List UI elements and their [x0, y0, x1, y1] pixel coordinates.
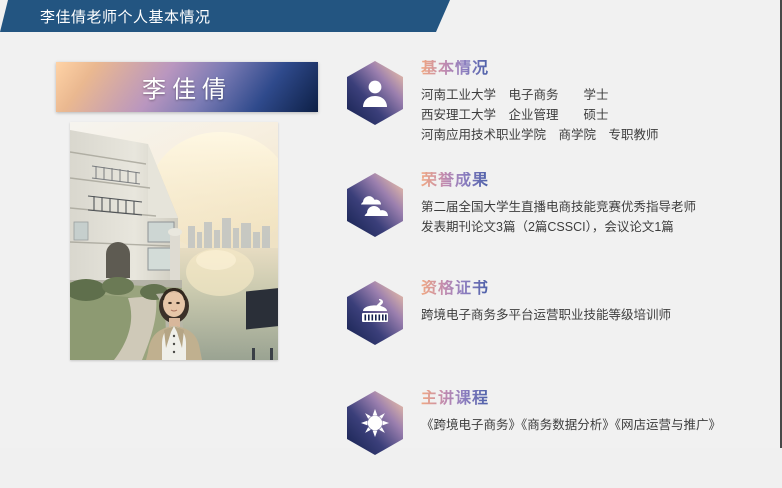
section-body: 基本情况 河南工业大学 电子商务 学士 西安理工大学 企业管理 硕士 河南应用技… [421, 56, 775, 145]
teacher-photo [70, 122, 278, 360]
section-line: 河南工业大学 电子商务 学士 [421, 85, 775, 105]
brush-icon [345, 280, 405, 346]
section-title: 荣誉成果 [421, 172, 489, 190]
teacher-name: 李佳倩 [56, 70, 318, 105]
header: 李佳倩老师个人基本情况 [0, 0, 782, 34]
section-line: 《跨境电子商务》《商务数据分析》《网店运营与推广》 [421, 415, 775, 435]
photo-image [70, 122, 278, 360]
section-title: 基本情况 [421, 60, 489, 78]
slide-page: 李佳倩老师个人基本情况 李佳倩 [0, 0, 782, 448]
section-title: 资格证书 [421, 280, 489, 298]
section-line: 河南应用技术职业学院 商学院 专职教师 [421, 125, 775, 145]
section-honors: 荣誉成果 第二届全国大学生直播电商技能竞赛优秀指导老师 发表期刊论文3篇（2篇C… [345, 168, 775, 260]
section-body: 荣誉成果 第二届全国大学生直播电商技能竞赛优秀指导老师 发表期刊论文3篇（2篇C… [421, 168, 775, 237]
section-line: 第二届全国大学生直播电商技能竞赛优秀指导老师 [421, 197, 775, 217]
person-icon [345, 60, 405, 126]
section-body: 资格证书 跨境电子商务多平台运营职业技能等级培训师 [421, 276, 775, 325]
page-title: 李佳倩老师个人基本情况 [40, 6, 211, 27]
section-line: 西安理工大学 企业管理 硕士 [421, 105, 775, 125]
section-courses: 主讲课程 《跨境电子商务》《商务数据分析》《网店运营与推广》 [345, 386, 775, 478]
section-line: 跨境电子商务多平台运营职业技能等级培训师 [421, 305, 775, 325]
info-sections: 基本情况 河南工业大学 电子商务 学士 西安理工大学 企业管理 硕士 河南应用技… [345, 56, 775, 488]
section-certificates: 资格证书 跨境电子商务多平台运营职业技能等级培训师 [345, 276, 775, 368]
sun-icon [345, 390, 405, 456]
cloud-icon [345, 172, 405, 238]
section-basic-info: 基本情况 河南工业大学 电子商务 学士 西安理工大学 企业管理 硕士 河南应用技… [345, 56, 775, 148]
name-card: 李佳倩 [56, 62, 318, 112]
section-line: 发表期刊论文3篇（2篇CSSCI），会议论文1篇 [421, 217, 775, 237]
section-title: 主讲课程 [421, 390, 489, 408]
section-body: 主讲课程 《跨境电子商务》《商务数据分析》《网店运营与推广》 [421, 386, 775, 435]
